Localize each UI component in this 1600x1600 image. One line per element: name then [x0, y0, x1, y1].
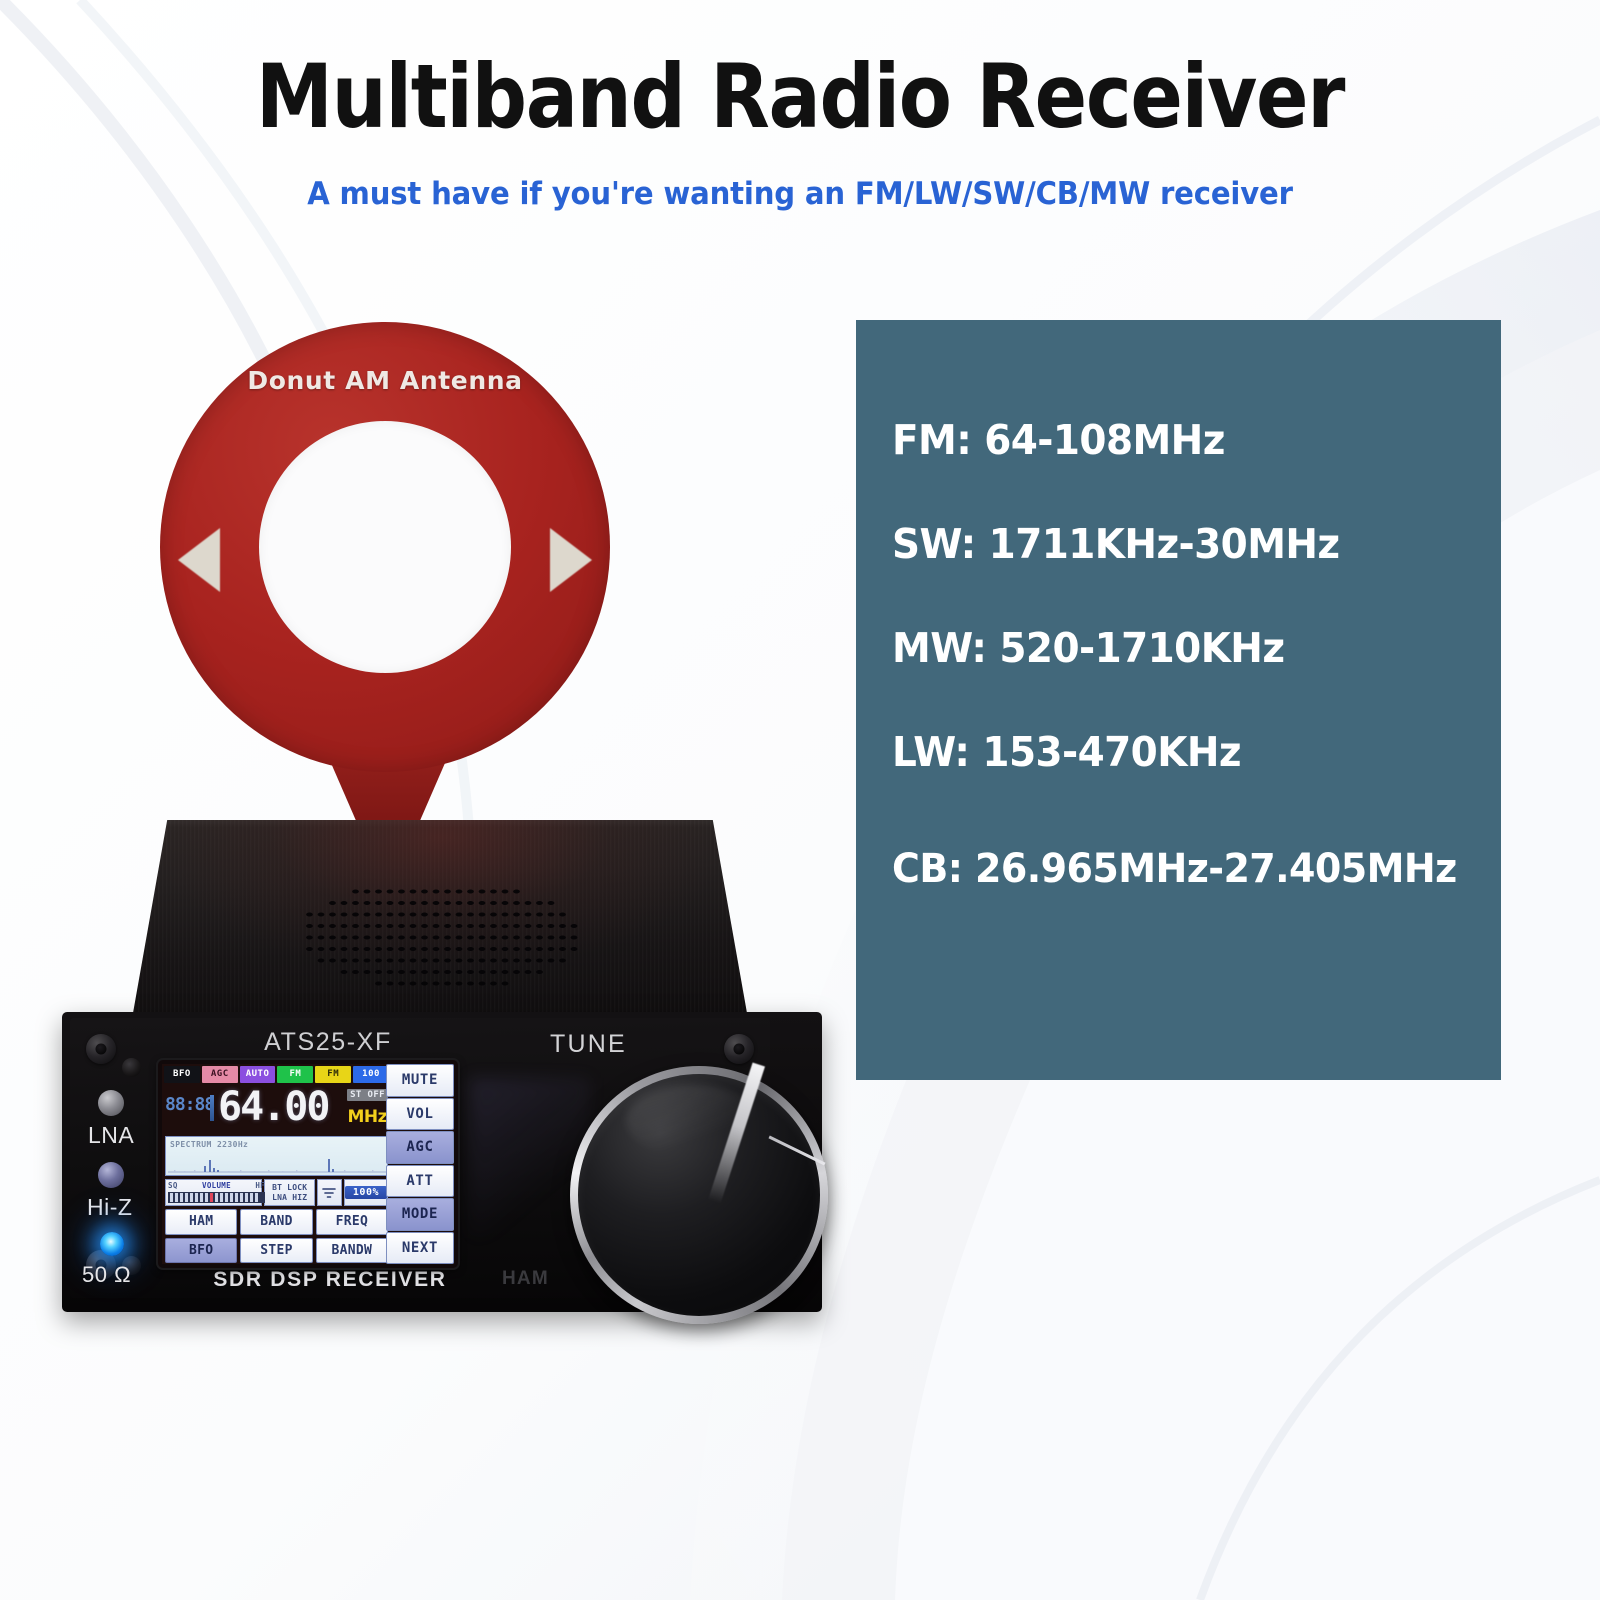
frequency-value: 64.00 [218, 1087, 328, 1127]
panel-screw-top-left [86, 1034, 116, 1064]
speaker-grille [290, 876, 590, 994]
lcd-button-mute[interactable]: MUTE [386, 1064, 454, 1097]
frequency-unit-label: MHz [347, 1107, 387, 1127]
tune-knob-face [578, 1074, 820, 1316]
status-tag-fm-yellow: FM [315, 1066, 351, 1083]
bt-lock-label: BT LOCK [272, 1183, 307, 1193]
page-subtitle: A must have if you're wanting an FM/LW/S… [48, 176, 1552, 212]
lcd-button-agc[interactable]: AGC [386, 1131, 454, 1164]
radio-top-panel [130, 820, 750, 1030]
frequency-marker-bar [210, 1095, 214, 1121]
signal-icon-block[interactable] [317, 1179, 342, 1206]
antenna-ring-hole [259, 421, 511, 673]
frequency-display-zone: 88:88 64.00 ST OFF MHz [162, 1085, 391, 1131]
model-name-label: ATS25-XF [188, 1028, 468, 1057]
right-arrow-icon [550, 528, 592, 592]
lcd-button-ham[interactable]: HAM [165, 1209, 237, 1235]
lcd-button-freq[interactable]: FREQ [316, 1209, 388, 1235]
volume-meter-labels: SQ VOLUME HF [168, 1181, 265, 1190]
fifty-ohm-led-indicator[interactable] [100, 1232, 124, 1256]
lcd-inner-area: BFO AGC AUTO FM FM 100 88:88 64.00 ST OF… [162, 1064, 454, 1264]
lcd-button-bandw[interactable]: BANDW [316, 1238, 388, 1264]
antenna-jack-port[interactable] [122, 1058, 141, 1077]
lna-hiz-label: LNA HIZ [272, 1193, 307, 1203]
lcd-button-vol[interactable]: VOL [386, 1098, 454, 1131]
page-title: Multiband Radio Receiver [96, 52, 1504, 142]
spec-row-cb: CB: 26.965MHz-27.405MHz [892, 846, 1471, 892]
status-tag-agc: AGC [202, 1066, 238, 1083]
status-tag-step-100: 100 [353, 1066, 389, 1083]
spec-row-fm: FM: 64-108MHz [892, 416, 1471, 464]
status-tag-auto: AUTO [240, 1066, 276, 1083]
volume-label: VOLUME [202, 1181, 231, 1190]
status-tag-fm-green: FM [277, 1066, 313, 1083]
spec-row-lw: LW: 153-470KHz [892, 728, 1471, 776]
spectrum-analyzer-panel[interactable]: SPECTRUM 2230Hz [165, 1136, 388, 1176]
lcd-status-tag-bar: BFO AGC AUTO FM FM 100 [164, 1066, 389, 1083]
antenna-label: Donut AM Antenna [160, 366, 610, 395]
volume-meter-block[interactable]: SQ VOLUME HF [165, 1179, 262, 1206]
lcd-button-band[interactable]: BAND [240, 1209, 312, 1235]
panel-screw-top-right [724, 1034, 754, 1064]
antenna-signal-icon [321, 1185, 337, 1201]
spectrum-waveform [168, 1151, 387, 1173]
volume-segments [168, 1192, 265, 1203]
clock-display: 88:88 [165, 1094, 214, 1115]
tune-knob-label: TUNE [550, 1030, 627, 1059]
ham-badge-label: HAM [502, 1268, 549, 1290]
speaker-grille-holes [290, 876, 590, 994]
hi-z-button[interactable] [98, 1162, 124, 1188]
spec-row-mw: MW: 520-1710KHz [892, 624, 1471, 672]
lcd-button-att[interactable]: ATT [386, 1165, 454, 1198]
lcd-touchscreen[interactable]: BFO AGC AUTO FM FM 100 88:88 64.00 ST OF… [158, 1060, 458, 1268]
tune-knob-rim [570, 1066, 828, 1324]
left-arrow-icon [178, 528, 220, 592]
hf-label: HF [255, 1181, 265, 1190]
front-face-plate: ATS25-XF TUNE SDR DSP RECEIVER HAM LNA H… [70, 1018, 770, 1298]
lcd-status-strip: SQ VOLUME HF [165, 1179, 388, 1206]
lna-button[interactable] [98, 1090, 124, 1116]
squelch-label: SQ [168, 1181, 178, 1190]
hi-z-label: Hi-Z [87, 1194, 132, 1221]
tune-knob[interactable] [570, 1066, 838, 1334]
antenna-ring: Donut AM Antenna [160, 322, 610, 772]
spectrum-label: SPECTRUM 2230Hz [170, 1140, 248, 1149]
lcd-button-grid: HAM BAND FREQ BFO STEP BANDW [165, 1209, 388, 1263]
lna-label: LNA [88, 1122, 134, 1149]
lcd-button-mode[interactable]: MODE [386, 1198, 454, 1231]
volume-level-bar [168, 1192, 265, 1203]
lcd-button-step[interactable]: STEP [240, 1238, 312, 1264]
status-tag-bfo: BFO [164, 1066, 200, 1083]
donut-am-antenna: Donut AM Antenna [150, 318, 630, 838]
battery-percent-value: 100% [345, 1186, 387, 1199]
specification-panel: FM: 64-108MHz SW: 1711KHz-30MHz MW: 520-… [856, 320, 1501, 1080]
lcd-main-column: BFO AGC AUTO FM FM 100 88:88 64.00 ST OF… [162, 1064, 385, 1264]
lcd-button-bfo[interactable]: BFO [165, 1238, 237, 1264]
spectrum-bars [168, 1151, 387, 1173]
spec-row-sw: SW: 1711KHz-30MHz [892, 520, 1471, 568]
radio-receiver-unit: ATS25-XF TUNE SDR DSP RECEIVER HAM LNA H… [62, 820, 822, 1340]
stereo-status-badge: ST OFF [347, 1089, 388, 1101]
header-block: Multiband Radio Receiver A must have if … [0, 52, 1600, 212]
radio-front-panel: ATS25-XF TUNE SDR DSP RECEIVER HAM LNA H… [62, 1012, 822, 1312]
lcd-button-next[interactable]: NEXT [386, 1232, 454, 1265]
bt-lock-lna-hiz-block[interactable]: BT LOCK LNA HIZ [264, 1179, 315, 1206]
battery-percent-block[interactable]: 100% [344, 1179, 388, 1206]
lcd-side-button-column: MUTE VOL AGC ATT MODE NEXT [385, 1064, 454, 1264]
fifty-ohm-label: 50 Ω [82, 1262, 131, 1288]
product-type-label: SDR DSP RECEIVER [170, 1268, 490, 1292]
